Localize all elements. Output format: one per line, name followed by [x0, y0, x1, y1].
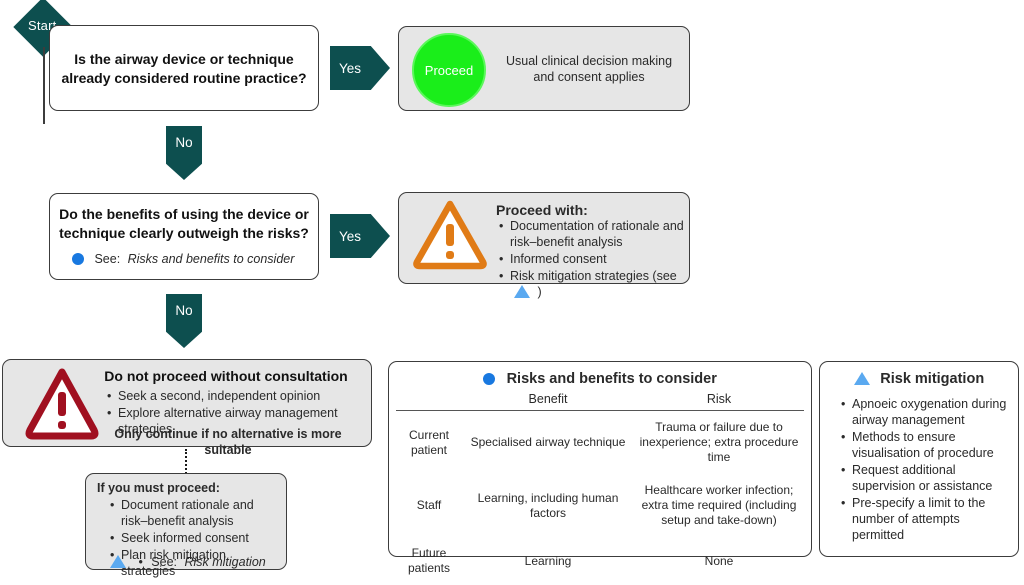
if-must-proceed-item: Document rationale and risk–benefit anal…: [121, 497, 283, 529]
if-must-proceed-see-target: Risk mitigation: [184, 555, 265, 569]
decision2-yes-label: Yes: [330, 229, 361, 244]
risk-mitigation-title-row: Risk mitigation: [819, 370, 1019, 389]
decision1-question: Is the airway device or technique alread…: [60, 50, 308, 88]
decision1-yes-arrow[interactable]: Yes: [330, 46, 390, 90]
risks-table-risk: Healthcare worker infection; extra time …: [634, 474, 804, 537]
proceed-with-item3-prefix: Risk mitigation strategies (see: [510, 269, 677, 283]
proceed-box-text-line1: Usual clinical decision making: [496, 53, 682, 69]
risk-mitigation-item: Request additional supervision or assist…: [852, 462, 1010, 494]
decision1-no-arrow[interactable]: No: [166, 126, 202, 180]
proceed-circle-label: Proceed: [425, 63, 473, 78]
risks-table-risk: None: [634, 537, 804, 585]
proceed-box-text-line2: and consent applies: [496, 69, 682, 85]
risks-table-benefit: Learning: [462, 537, 634, 585]
risks-table-col-1: Benefit: [462, 392, 634, 411]
risks-table-group: Staff: [396, 474, 462, 537]
warning-triangle-red-icon: [24, 364, 100, 442]
risks-benefits-table: Benefit Risk Current patient Specialised…: [396, 392, 804, 585]
proceed-with-item: Informed consent: [510, 251, 688, 267]
decision1-yes-label: Yes: [330, 61, 361, 76]
blue-triangle-icon: [110, 555, 126, 568]
do-not-proceed-title: Do not proceed without consultation: [90, 367, 362, 386]
risks-table-risk: Trauma or failure due to inexperience; e…: [634, 411, 804, 475]
table-row: Staff Learning, including human factors …: [396, 474, 804, 537]
decision2-see-target: Risks and benefits to consider: [128, 252, 295, 266]
if-must-proceed-see-row[interactable]: • See: Risk mitigation: [110, 553, 280, 571]
proceed-circle: Proceed: [412, 33, 486, 107]
if-must-proceed-see-bullet: •: [138, 555, 142, 569]
proceed-with-items: Documentation of rationale and risk–bene…: [496, 218, 688, 301]
if-must-proceed-see-prefix: See:: [151, 555, 177, 569]
blue-circle-icon: [72, 253, 84, 265]
blue-circle-icon: [483, 373, 495, 385]
risk-mitigation-item: Apnoeic oxygenation during airway manage…: [852, 396, 1010, 428]
risks-table-col-0: [396, 392, 462, 411]
blue-triangle-icon: [854, 372, 870, 385]
decision2-yes-arrow[interactable]: Yes: [330, 214, 390, 258]
decision2-see-prefix: See:: [94, 252, 120, 266]
risks-table-benefit: Learning, including human factors: [462, 474, 634, 537]
proceed-with-item: Risk mitigation strategies (see ): [510, 268, 688, 300]
connector-dotted-to-if-must-proceed: [185, 449, 187, 474]
proceed-with-item3-suffix: ): [537, 285, 541, 299]
risk-mitigation-items: Apnoeic oxygenation during airway manage…: [838, 396, 1010, 544]
risks-table-col-2: Risk: [634, 392, 804, 411]
risk-mitigation-item: Pre-specify a limit to the number of att…: [852, 495, 1010, 543]
do-not-proceed-footer: Only continue if no alternative is more …: [92, 426, 364, 459]
proceed-with-title: Proceed with:: [496, 201, 588, 219]
risks-table-title: Risks and benefits to consider: [507, 371, 717, 387]
decision2-no-label: No: [175, 294, 192, 348]
decision1-no-label: No: [175, 126, 192, 180]
proceed-with-item: Documentation of rationale and risk–bene…: [510, 218, 688, 250]
risks-table-title-row: Risks and benefits to consider: [388, 370, 812, 389]
blue-triangle-icon: [514, 285, 530, 298]
if-must-proceed-item: Seek informed consent: [121, 530, 283, 546]
decision2-see-row[interactable]: See: Risks and benefits to consider: [72, 250, 312, 268]
risk-mitigation-title: Risk mitigation: [880, 371, 984, 387]
do-not-proceed-item: Seek a second, independent opinion: [118, 388, 362, 404]
flowchart-canvas: Start Is the airway device or technique …: [0, 0, 1024, 574]
table-row: Current patient Specialised airway techn…: [396, 411, 804, 475]
table-row: Future patients Learning None: [396, 537, 804, 585]
connector-start-to-decision1: [43, 47, 45, 124]
risks-table-benefit: Specialised airway technique: [462, 411, 634, 475]
decision2-no-arrow[interactable]: No: [166, 294, 202, 348]
decision2-question: Do the benefits of using the device or t…: [58, 205, 310, 243]
warning-triangle-orange-icon: [412, 198, 488, 270]
risks-table-group: Future patients: [396, 537, 462, 585]
if-must-proceed-title: If you must proceed:: [97, 480, 220, 496]
risk-mitigation-item: Methods to ensure visualisation of proce…: [852, 429, 1010, 461]
risks-table-group: Current patient: [396, 411, 462, 475]
